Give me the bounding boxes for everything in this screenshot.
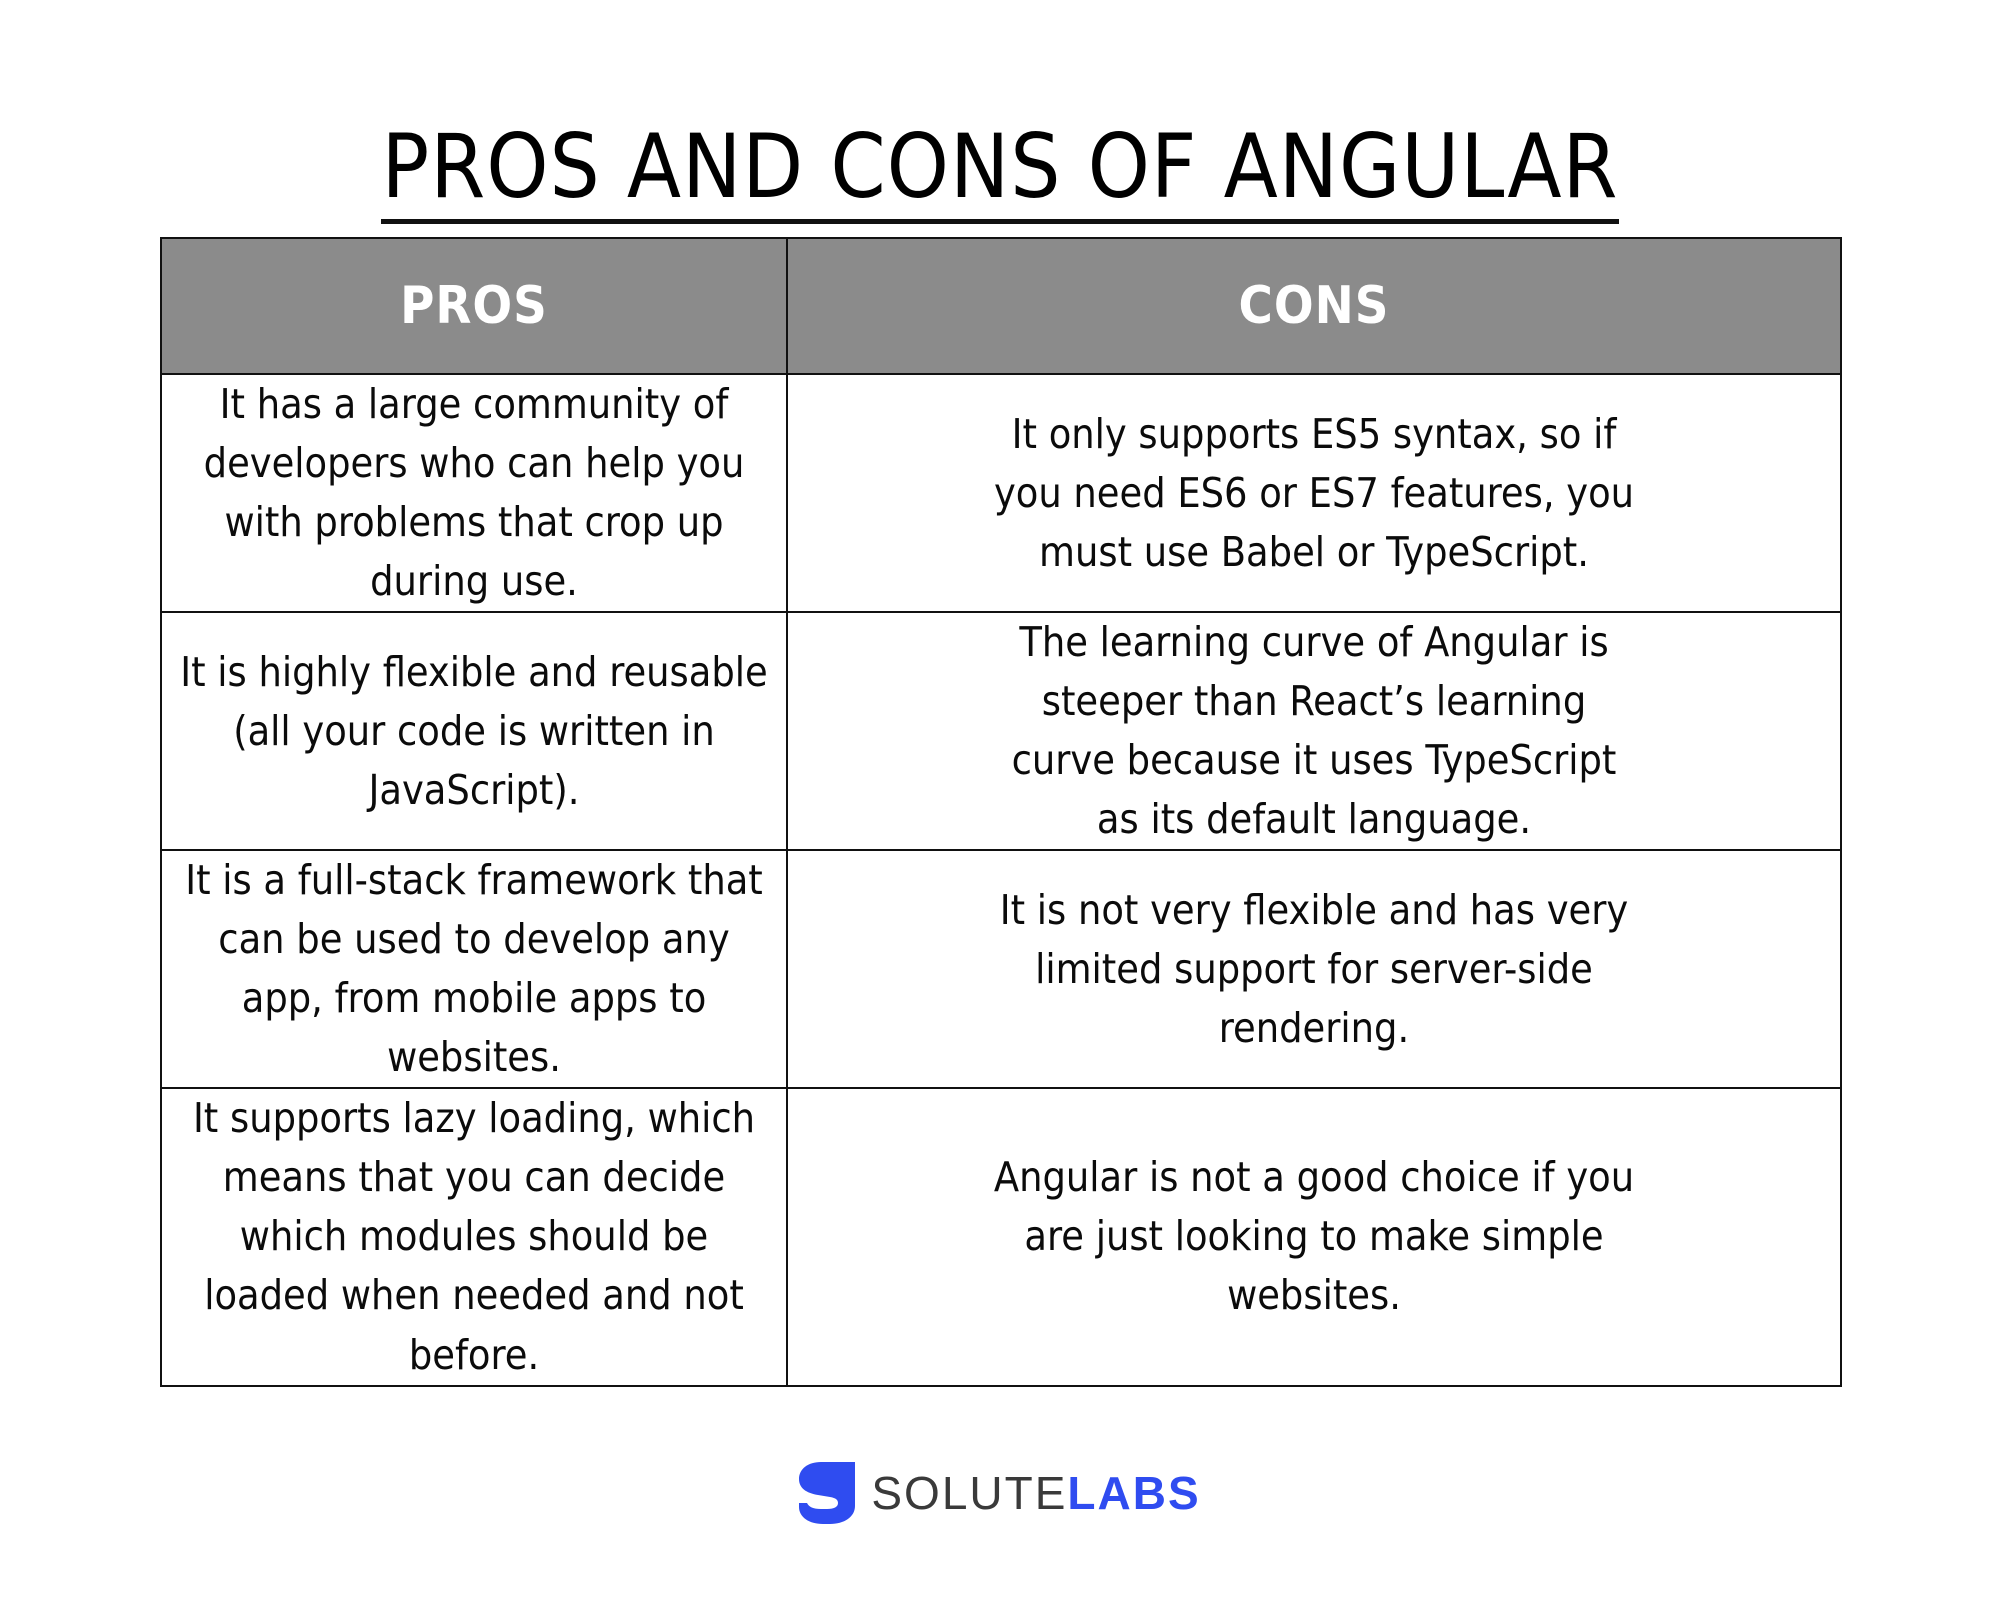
table-row: It has a large community of developers w… [161,374,1841,612]
cell-pros-4-text: It supports lazy loading, which means th… [174,1089,774,1384]
column-header-pros-label: PROS [162,280,786,332]
cell-pros-1: It has a large community of developers w… [161,374,787,612]
cell-cons-1: It only supports ES5 syntax, so if you n… [787,374,1841,612]
column-header-cons-label: CONS [788,280,1840,332]
solutelabs-s-mark-icon [799,1462,855,1524]
table-row: It supports lazy loading, which means th… [161,1088,1841,1385]
cell-cons-3-text: It is not very flexible and has very lim… [992,881,1637,1058]
cell-pros-3-text: It is a full-stack framework that can be… [174,851,774,1087]
table-row: It is highly flexible and reusable (all … [161,612,1841,850]
poster-page: PROS AND CONS OF ANGULAR PROS CONS It ha… [0,0,2000,1600]
cell-cons-4: Angular is not a good choice if you are … [787,1088,1841,1385]
solutelabs-wordmark: SOLUTELABS [871,1470,1200,1516]
solutelabs-logo: SOLUTELABS [0,1462,2000,1524]
page-title: PROS AND CONS OF ANGULAR [381,121,1618,224]
pros-cons-table: PROS CONS It has a large community of de… [160,237,1842,1387]
logo-word-labs: LABS [1067,1467,1200,1519]
cell-cons-2: The learning curve of Angular is steeper… [787,612,1841,850]
cell-pros-2-text: It is highly flexible and reusable (all … [174,643,774,820]
logo-word-solute: SOLUTE [871,1467,1067,1519]
table-row: It is a full-stack framework that can be… [161,850,1841,1088]
table-header-row: PROS CONS [161,238,1841,374]
table-body: It has a large community of developers w… [161,374,1841,1386]
column-header-pros: PROS [161,238,787,374]
table-header: PROS CONS [161,238,1841,374]
cell-pros-1-text: It has a large community of developers w… [174,375,774,611]
cell-cons-1-text: It only supports ES5 syntax, so if you n… [992,405,1637,582]
cell-pros-4: It supports lazy loading, which means th… [161,1088,787,1385]
cell-pros-3: It is a full-stack framework that can be… [161,850,787,1088]
column-header-cons: CONS [787,238,1841,374]
cell-cons-4-text: Angular is not a good choice if you are … [992,1148,1637,1325]
cell-pros-2: It is highly flexible and reusable (all … [161,612,787,850]
cell-cons-2-text: The learning curve of Angular is steeper… [992,613,1637,849]
cell-cons-3: It is not very flexible and has very lim… [787,850,1841,1088]
